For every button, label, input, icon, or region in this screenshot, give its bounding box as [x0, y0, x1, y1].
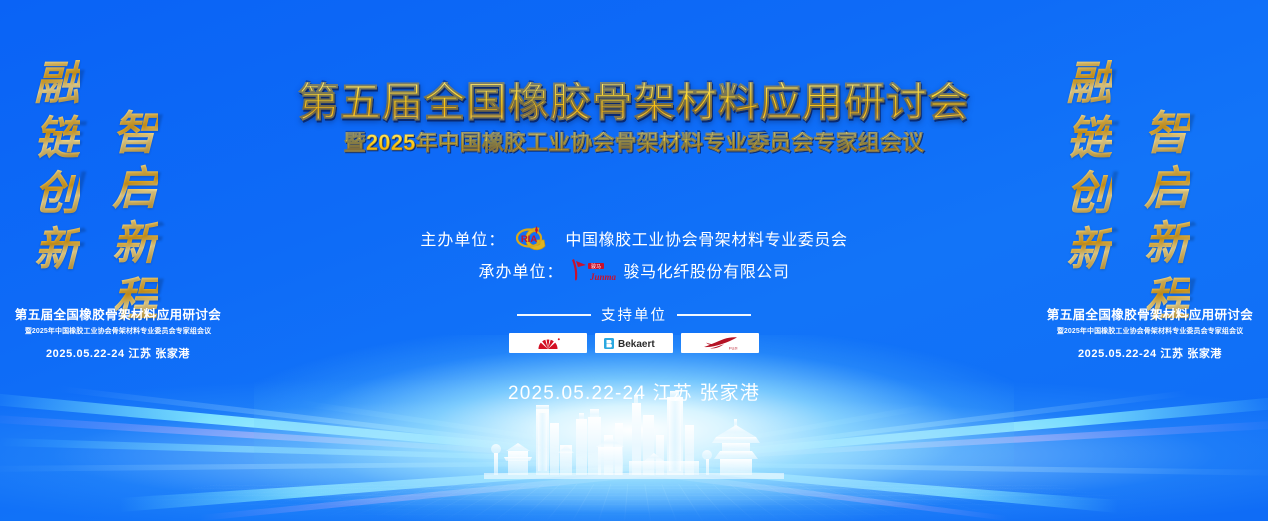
svg-text:骏马: 骏马	[590, 263, 600, 270]
side-panel-subtitle: 暨2025年中国橡胶工业协会骨架材料专业委员会专家组会议	[1032, 326, 1268, 336]
calligraphy-char: 融	[1066, 56, 1112, 111]
main-title: 第五届全国橡胶骨架材料应用研讨会	[236, 82, 1032, 123]
calligraphy-char: 新	[112, 216, 158, 271]
svg-text:Junma: Junma	[589, 272, 617, 282]
side-panel-subtitle: 暨2025年中国橡胶工业协会骨架材料专业委员会专家组会议	[0, 326, 236, 336]
calligraphy-char: 新	[1066, 222, 1112, 277]
organizer-block: 主办单位： RIA 中国橡胶工业协会骨架材料专业委员会 承办单位：	[236, 222, 1032, 286]
sponsor-logo-row: Bekaert FUJI	[236, 333, 1032, 353]
support-heading: 支持单位	[236, 304, 1032, 325]
bekaert-logo: Bekaert	[595, 333, 673, 353]
calligraphy-char: 创	[1066, 166, 1112, 221]
calligraphy-char: 创	[34, 166, 80, 221]
ria-g-circle-logo: RIA	[507, 223, 559, 253]
event-date-location: 2025.05.22-24 江苏 张家港	[236, 378, 1032, 405]
calligraphy-char: 新	[1144, 216, 1190, 271]
title-block: 第五届全国橡胶骨架材料应用研讨会 暨2025年中国橡胶工业协会骨架材料专业委员会…	[236, 82, 1032, 155]
organizer-label: 承办单位：	[478, 258, 563, 282]
bekaert-wordmark: Bekaert	[618, 339, 655, 350]
left-panel-text-block: 第五届全国橡胶骨架材料应用研讨会 暨2025年中国橡胶工业协会骨架材料专业委员会…	[0, 304, 236, 361]
calligraphy-char: 链	[34, 111, 80, 166]
calligraphy-column-2: 智 启 新 程	[112, 106, 158, 327]
support-heading-text: 支持单位	[601, 304, 667, 325]
calligraphy-char: 智	[112, 106, 158, 161]
calligraphy-column-1: 融 链 创 新	[1066, 56, 1112, 277]
swoosh-bird-logo: FUJI	[681, 333, 759, 353]
side-panel-title: 第五届全国橡胶骨架材料应用研讨会	[1032, 304, 1268, 323]
calligraphy-char: 启	[1144, 161, 1190, 216]
junma-script-logo: 骏马 Junma	[566, 255, 618, 285]
calligraphy-column-1: 融 链 创 新	[34, 56, 80, 277]
calligraphy-char: 新	[34, 222, 80, 277]
conference-banner: 融 链 创 新 智 启 新 程 第五届全国橡胶骨架材料应用研讨会 暨2025年中…	[0, 0, 1268, 521]
left-side-panel: 融 链 创 新 智 启 新 程 第五届全国橡胶骨架材料应用研讨会 暨2025年中…	[0, 0, 236, 521]
divider-line-right	[677, 314, 751, 316]
side-panel-date: 2025.05.22-24 江苏 张家港	[1032, 345, 1268, 361]
organizer-row: 承办单位： 骏马 Junma 骏马化纤股份有限公司	[236, 254, 1032, 286]
divider-line-left	[517, 314, 591, 316]
side-panel-title: 第五届全国橡胶骨架材料应用研讨会	[0, 304, 236, 323]
svg-text:RIA: RIA	[521, 234, 538, 245]
calligraphy-char: 融	[34, 56, 80, 111]
calligraphy-char: 链	[1066, 111, 1112, 166]
sub-title: 暨2025年中国橡胶工业协会骨架材料专业委员会专家组会议	[248, 132, 1020, 155]
organizer-name: 骏马化纤股份有限公司	[624, 258, 790, 282]
right-panel-text-block: 第五届全国橡胶骨架材料应用研讨会 暨2025年中国橡胶工业协会骨架材料专业委员会…	[1032, 304, 1268, 361]
support-block: 支持单位	[236, 304, 1032, 353]
svg-text:FUJI: FUJI	[729, 345, 737, 350]
calligraphy-char: 启	[112, 161, 158, 216]
asahi-sunburst-logo	[509, 333, 587, 353]
right-side-panel: 融 链 创 新 智 启 新 程 第五届全国橡胶骨架材料应用研讨会 暨2025年中…	[1032, 0, 1268, 521]
organizer-label: 主办单位：	[420, 226, 505, 250]
calligraphy-char: 智	[1144, 106, 1190, 161]
organizer-name: 中国橡胶工业协会骨架材料专业委员会	[565, 226, 847, 250]
calligraphy-column-2: 智 启 新 程	[1144, 106, 1190, 327]
side-panel-date: 2025.05.22-24 江苏 张家港	[0, 345, 236, 361]
organizer-row: 主办单位： RIA 中国橡胶工业协会骨架材料专业委员会	[236, 222, 1032, 254]
center-content: 第五届全国橡胶骨架材料应用研讨会 暨2025年中国橡胶工业协会骨架材料专业委员会…	[236, 0, 1032, 521]
